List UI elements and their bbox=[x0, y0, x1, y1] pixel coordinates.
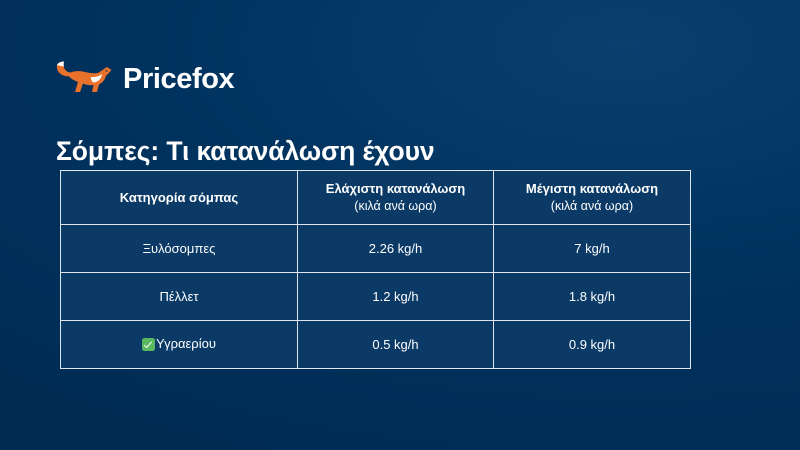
cell-max-consumption: 0.9 kg/h bbox=[494, 321, 691, 369]
cell-min-consumption: 1.2 kg/h bbox=[298, 273, 494, 321]
table-row: Πέλλετ 1.2 kg/h 1.8 kg/h bbox=[61, 273, 691, 321]
column-header-min-unit: (κιλά ανά ωρα) bbox=[304, 198, 487, 215]
page-title: Σόμπες: Τι κατανάλωση έχουν bbox=[56, 136, 435, 167]
cell-category: Υγραερίου bbox=[61, 321, 298, 369]
cell-category-label: Υγραερίου bbox=[156, 336, 216, 351]
white-check-mark-icon bbox=[142, 338, 155, 351]
cell-category: Πέλλετ bbox=[61, 273, 298, 321]
column-header-min-main: Ελάχιστη κατανάλωση bbox=[304, 180, 487, 198]
table-body: Ξυλόσομπες 2.26 kg/h 7 kg/h Πέλλετ 1.2 k… bbox=[61, 225, 691, 369]
cell-category-label: Ξυλόσομπες bbox=[143, 241, 216, 256]
brand-wordmark: Pricefox bbox=[123, 65, 234, 94]
brand-logo-lockup[interactable]: Pricefox bbox=[55, 55, 234, 103]
cell-category: Ξυλόσομπες bbox=[61, 225, 298, 273]
column-header-max-main: Μέγιστη κατανάλωση bbox=[500, 180, 684, 198]
column-header-min: Ελάχιστη κατανάλωση (κιλά ανά ωρα) bbox=[298, 171, 494, 225]
cell-min-consumption: 2.26 kg/h bbox=[298, 225, 494, 273]
column-header-category-main: Κατηγορία σόμπας bbox=[67, 189, 291, 207]
consumption-table-wrapper: Κατηγορία σόμπας Ελάχιστη κατανάλωση (κι… bbox=[60, 170, 690, 369]
table-header: Κατηγορία σόμπας Ελάχιστη κατανάλωση (κι… bbox=[61, 171, 691, 225]
table-row: Υγραερίου 0.5 kg/h 0.9 kg/h bbox=[61, 321, 691, 369]
column-header-max-unit: (κιλά ανά ωρα) bbox=[500, 198, 684, 215]
column-header-max: Μέγιστη κατανάλωση (κιλά ανά ωρα) bbox=[494, 171, 691, 225]
fox-logo-icon bbox=[55, 57, 113, 101]
cell-min-consumption: 0.5 kg/h bbox=[298, 321, 494, 369]
consumption-table: Κατηγορία σόμπας Ελάχιστη κατανάλωση (κι… bbox=[60, 170, 691, 369]
cell-category-label: Πέλλετ bbox=[159, 289, 198, 304]
column-header-category: Κατηγορία σόμπας bbox=[61, 171, 298, 225]
cell-max-consumption: 1.8 kg/h bbox=[494, 273, 691, 321]
table-header-row: Κατηγορία σόμπας Ελάχιστη κατανάλωση (κι… bbox=[61, 171, 691, 225]
cell-max-consumption: 7 kg/h bbox=[494, 225, 691, 273]
slide-canvas: Pricefox Σόμπες: Τι κατανάλωση έχουν Κατ… bbox=[0, 0, 800, 450]
table-row: Ξυλόσομπες 2.26 kg/h 7 kg/h bbox=[61, 225, 691, 273]
